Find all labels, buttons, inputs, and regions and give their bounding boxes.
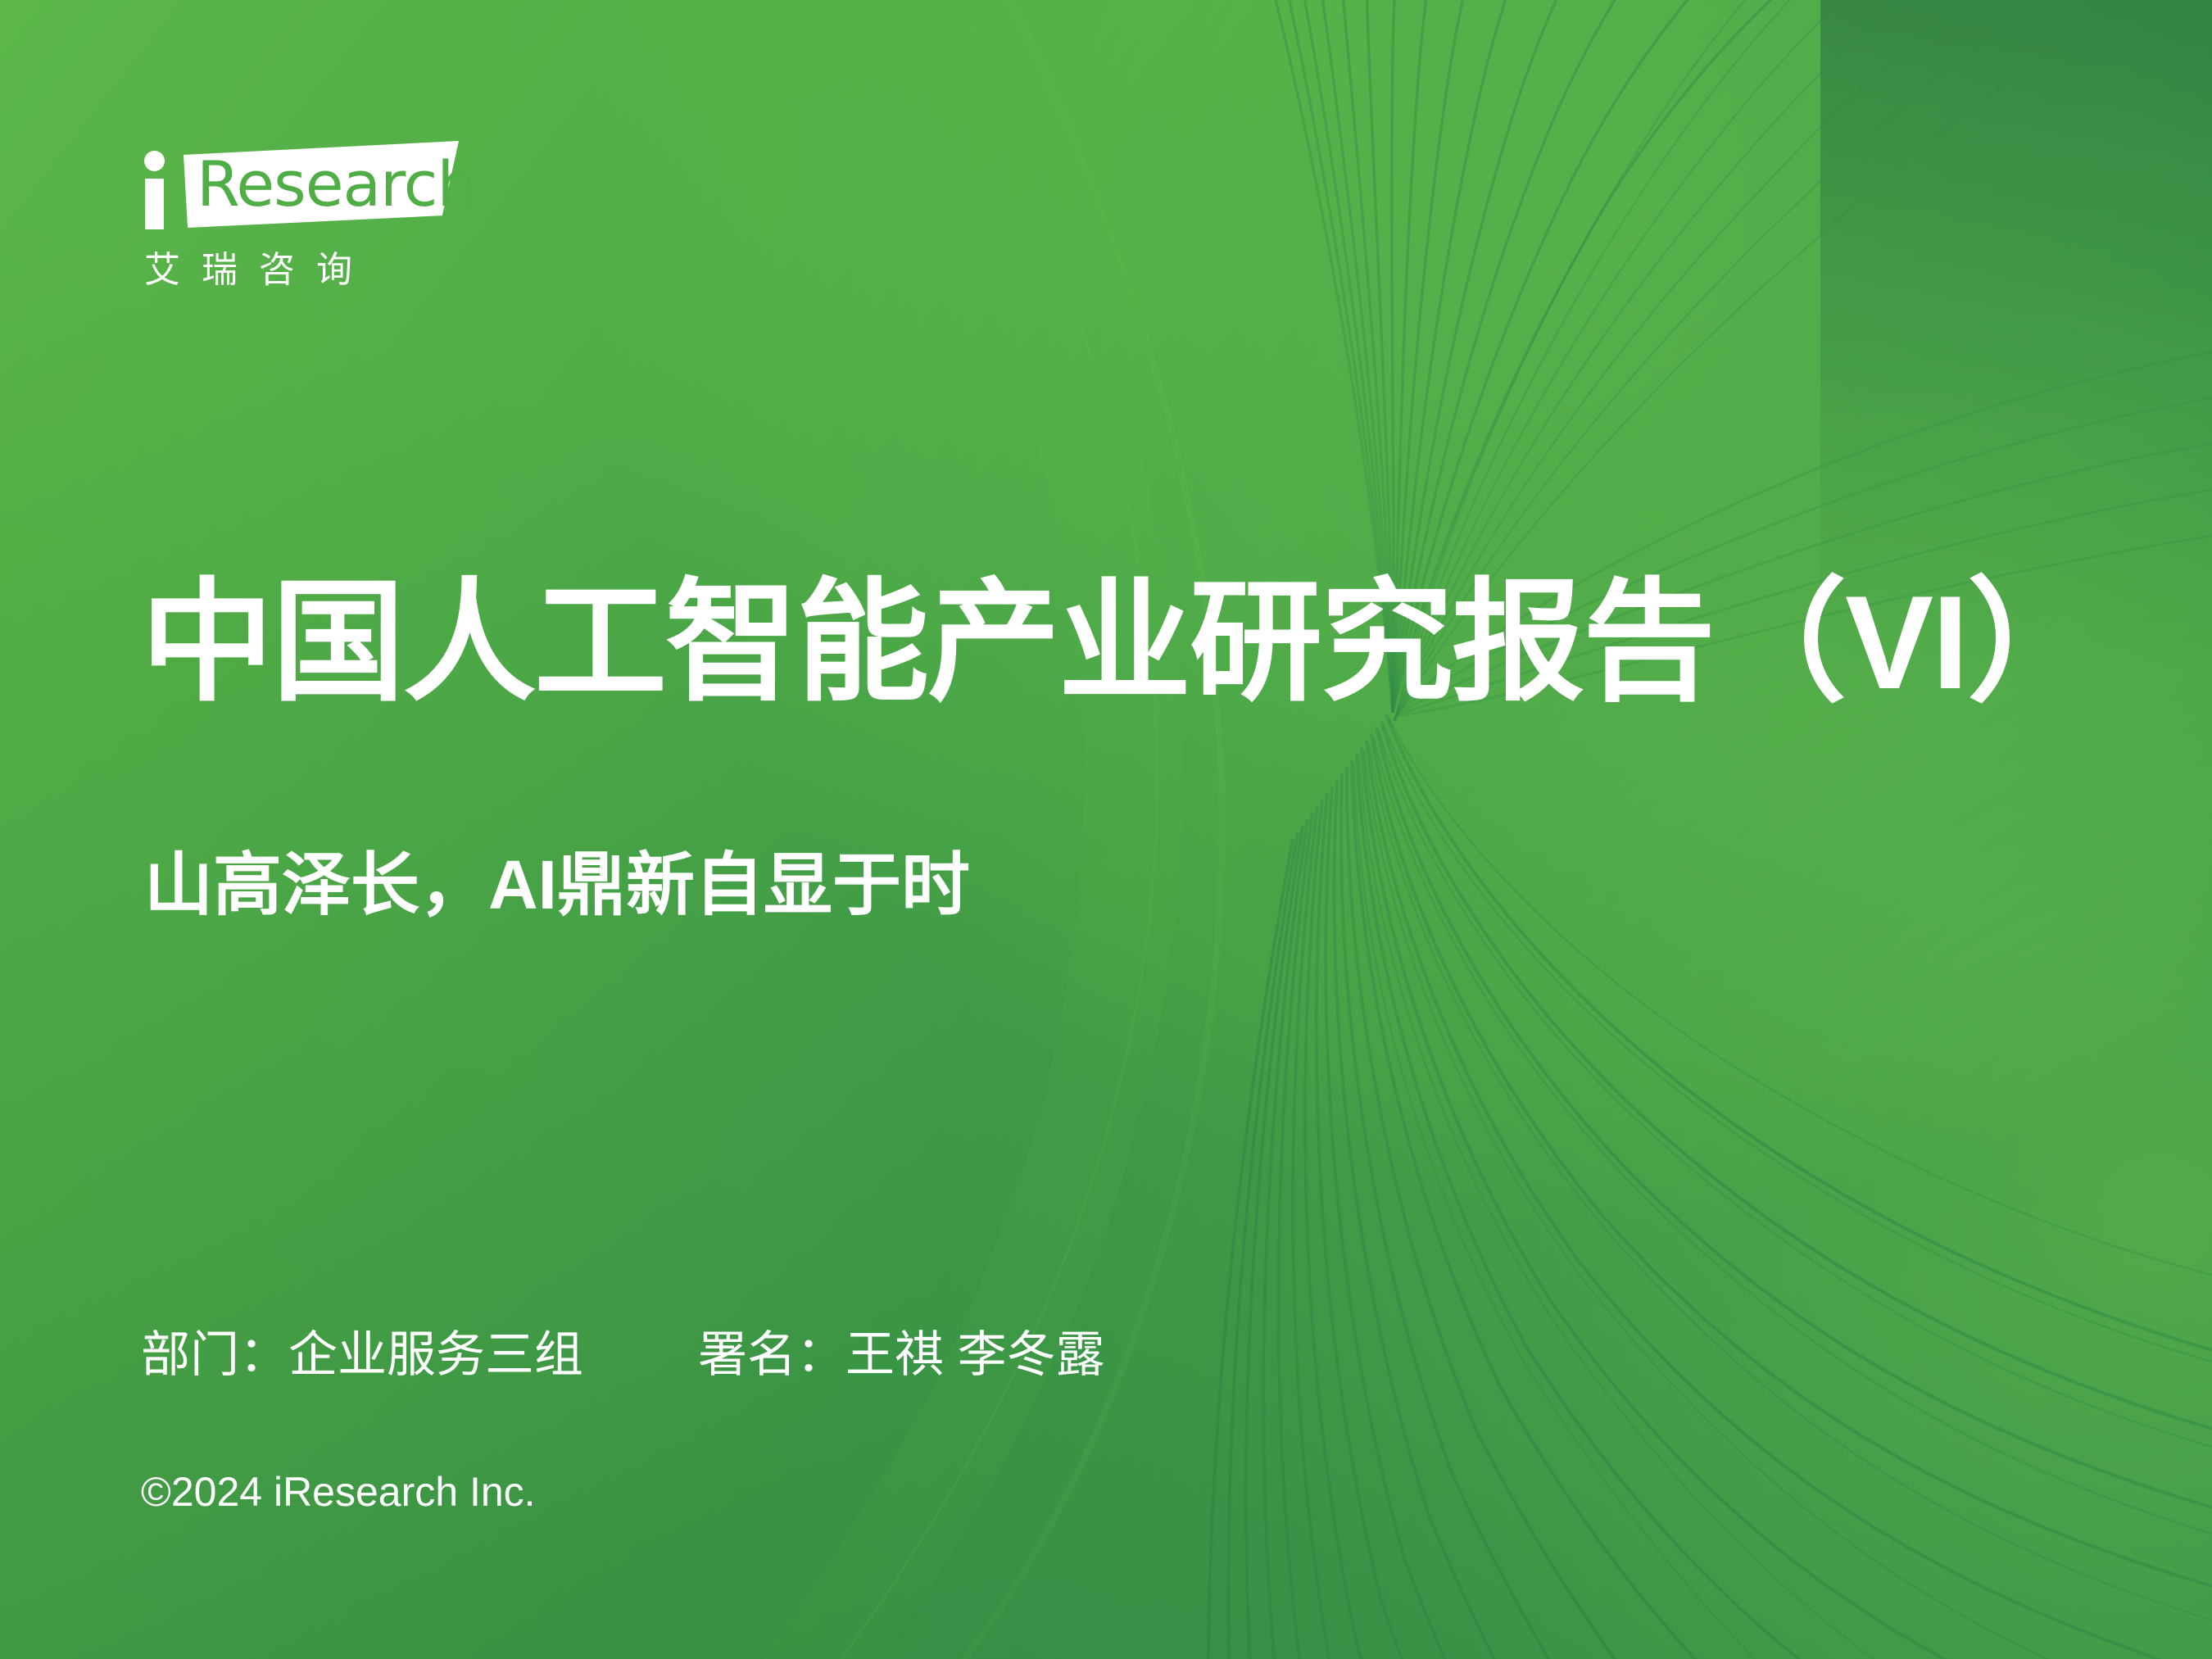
cover-meta-row: 部门：企业服务三组 署名：王祺 李冬露 (141, 1326, 1105, 1385)
page-subtitle: 山高泽长，AI鼎新自显于时 (144, 842, 970, 927)
logo-wordmark: Research (197, 152, 476, 216)
copyright-text: ©2024 iResearch Inc. (141, 1466, 536, 1517)
logo-i-dot (144, 151, 165, 171)
logo-chinese-name: 艾瑞咨询 (144, 249, 490, 292)
department-text: 部门：企业服务三组 (141, 1326, 698, 1385)
report-cover-slide: Research 艾瑞咨询 中国人工智能产业研究报告（VI） 山高泽长，AI鼎新… (0, 0, 2212, 1659)
logo-mark: Research (138, 141, 465, 233)
background-right-dark-band (1820, 0, 2212, 860)
logo-i-stem (145, 179, 164, 229)
author-text: 署名：王祺 李冬露 (698, 1326, 1105, 1385)
page-title: 中国人工智能产业研究报告（VI） (141, 565, 2098, 721)
iresearch-logo: Research 艾瑞咨询 (138, 141, 490, 292)
